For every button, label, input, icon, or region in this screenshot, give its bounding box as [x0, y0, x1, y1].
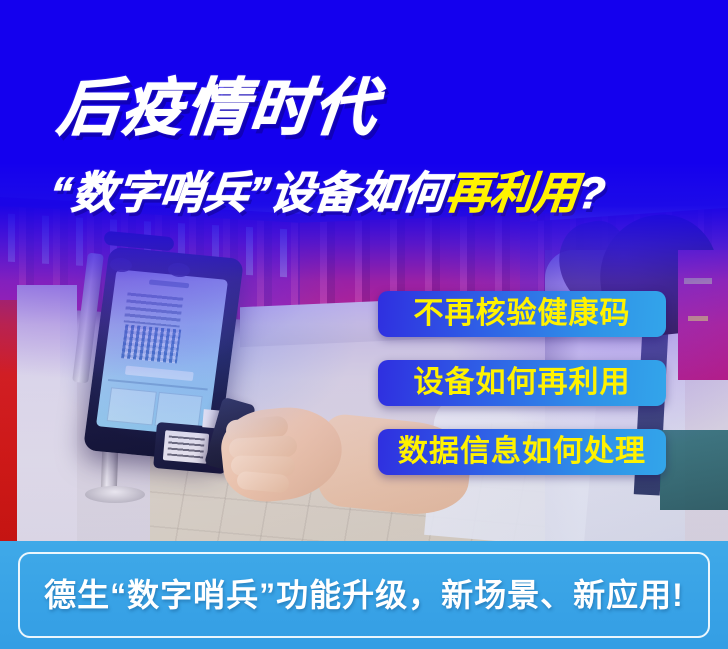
footer-banner: 德生“数字哨兵”功能升级，新场景、新应用!	[0, 541, 728, 649]
subtitle-part-1: “数字哨兵”设备如何	[47, 169, 448, 218]
topic-pill-2-label: 数据信息如何处理	[398, 437, 646, 467]
topic-pill-0-label: 不再核验健康码	[414, 299, 631, 329]
topic-pill-1[interactable]: 设备如何再利用	[378, 360, 666, 406]
subtitle-highlight: 再利用	[443, 169, 580, 218]
page-title: 后疫情时代	[55, 78, 382, 140]
page-subtitle: “数字哨兵”设备如何再利用?	[48, 172, 608, 216]
subtitle-part-2: ?	[575, 169, 607, 218]
topic-pill-0[interactable]: 不再核验健康码	[378, 291, 666, 337]
topic-pill-2[interactable]: 数据信息如何处理	[378, 429, 666, 475]
poster-root: 后疫情时代 “数字哨兵”设备如何再利用? 不再核验健康码 设备如何再利用 数据信…	[0, 0, 728, 649]
footer-banner-frame: 德生“数字哨兵”功能升级，新场景、新应用!	[18, 552, 710, 638]
footer-banner-label: 德生“数字哨兵”功能升级，新场景、新应用!	[44, 579, 684, 611]
topic-pill-1-label: 设备如何再利用	[414, 368, 631, 398]
